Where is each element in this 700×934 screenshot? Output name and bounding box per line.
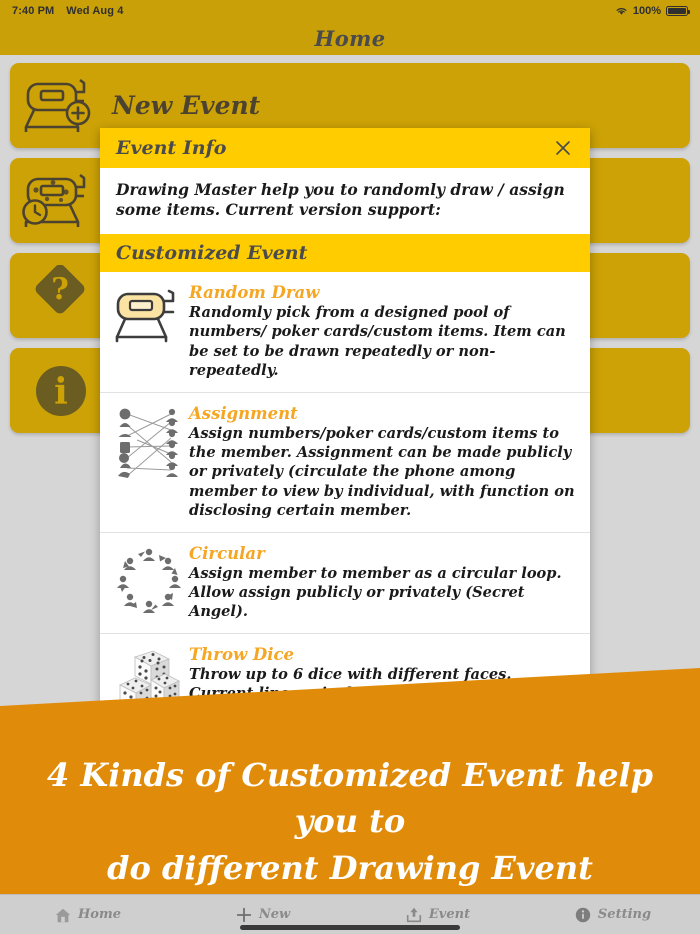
battery-full-icon (666, 6, 688, 16)
lottery-machine-icon (111, 283, 187, 381)
tab-label: Home (78, 907, 121, 922)
status-date: Wed Aug 4 (66, 5, 123, 17)
info-circle-icon: i (20, 359, 106, 423)
circular-loop-icon (111, 544, 187, 622)
home-icon (54, 906, 72, 924)
upload-box-icon (405, 906, 423, 924)
feature-description: Randomly pick from a designed pool of nu… (189, 303, 577, 381)
tab-label: New (259, 907, 290, 922)
modal-title: Event Info (116, 137, 226, 159)
feature-title: Assignment (189, 404, 577, 423)
tutorial-banner-line2: do different Drawing Event (107, 849, 593, 887)
battery-percent: 100% (633, 5, 661, 17)
tab-setting[interactable]: Setting (525, 895, 700, 934)
list-item[interactable]: Random Draw Randomly pick from a designe… (100, 272, 590, 393)
status-right-cluster: 100% (615, 5, 688, 17)
feature-list: Random Draw Randomly pick from a designe… (100, 272, 590, 734)
nav-bar: Home (0, 22, 700, 55)
section-header-customized-event: Customized Event (100, 234, 590, 272)
lottery-machine-plus-icon (20, 74, 106, 138)
feature-text-block: Assignment Assign numbers/poker cards/cu… (187, 404, 577, 521)
tutorial-banner-line1: 4 Kinds of Customized Event help you to (47, 756, 653, 840)
feature-title: Random Draw (189, 283, 577, 302)
tab-home[interactable]: Home (0, 895, 175, 934)
question-diamond-icon: ? (20, 264, 106, 328)
home-indicator (240, 925, 460, 930)
info-circle-icon (574, 906, 592, 924)
feature-description: Assign member to member as a circular lo… (189, 564, 577, 622)
status-bar: 7:40 PM Wed Aug 4 100% (0, 0, 700, 22)
feature-description: Assign numbers/poker cards/custom items … (189, 424, 577, 521)
wifi-icon (615, 6, 628, 16)
tab-label: Setting (598, 907, 651, 922)
lottery-machine-clock-icon (20, 169, 106, 233)
menu-item-label: New Event (112, 91, 260, 120)
list-item[interactable]: Circular Assign member to member as a ci… (100, 533, 590, 634)
feature-title: Throw Dice (189, 645, 577, 664)
close-icon[interactable] (552, 137, 574, 159)
list-item[interactable]: Assignment Assign numbers/poker cards/cu… (100, 393, 590, 533)
svg-text:i: i (54, 371, 68, 413)
feature-text-block: Random Draw Randomly pick from a designe… (187, 283, 577, 381)
tutorial-banner: 4 Kinds of Customized Event help you to … (0, 668, 700, 894)
status-time: 7:40 PM (12, 5, 54, 17)
feature-text-block: Circular Assign member to member as a ci… (187, 544, 577, 622)
assignment-network-icon (111, 404, 187, 521)
modal-header: Event Info (100, 128, 590, 168)
tutorial-banner-text: 4 Kinds of Customized Event help you to … (0, 752, 700, 891)
feature-title: Circular (189, 544, 577, 563)
plus-icon (235, 906, 253, 924)
tab-label: Event (429, 907, 470, 922)
svg-text:?: ? (51, 272, 69, 307)
page-title: Home (314, 26, 385, 51)
modal-intro-text: Drawing Master help you to randomly draw… (100, 168, 590, 234)
